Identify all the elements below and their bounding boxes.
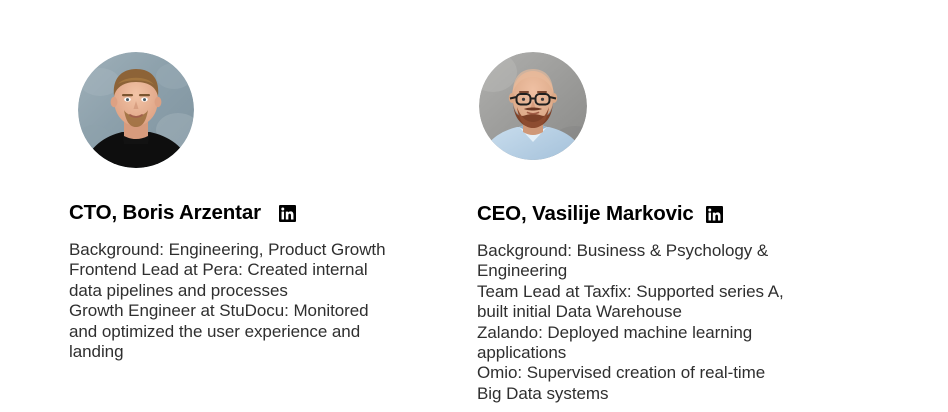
avatar-photo-boris <box>78 52 194 168</box>
team-members-grid: CTO, Boris Arzentar Background: Engineer… <box>0 0 948 412</box>
bio-line: Growth Engineer at StuDocu: Monitored an… <box>69 301 409 362</box>
member-title-row: CTO, Boris Arzentar <box>69 200 441 226</box>
avatar <box>479 52 587 160</box>
member-title-row: CEO, Vasilije Markovic <box>477 201 948 227</box>
bio-line: Omio: Supervised creation of real-time B… <box>477 363 827 404</box>
bio-line: Background: Business & Psychology & Engi… <box>477 241 827 282</box>
member-name: CTO, Boris Arzentar <box>69 200 261 226</box>
bio-line: Zalando: Deployed machine learning appli… <box>477 323 827 364</box>
bio-line: Background: Engineering, Product Growth <box>69 240 409 260</box>
linkedin-icon[interactable] <box>706 206 723 223</box>
linkedin-icon[interactable] <box>279 205 296 222</box>
avatar-photo-vasilije <box>479 52 587 160</box>
linkedin-glyph <box>706 206 723 223</box>
linkedin-glyph <box>279 205 296 222</box>
member-bio: Background: Engineering, Product Growth … <box>69 240 441 362</box>
team-member-card-cto: CTO, Boris Arzentar Background: Engineer… <box>0 0 441 412</box>
bio-line: Frontend Lead at Pera: Created internal … <box>69 260 409 301</box>
member-bio: Background: Business & Psychology & Engi… <box>477 241 948 404</box>
avatar <box>78 52 194 168</box>
team-member-card-ceo: CEO, Vasilije Markovic Background: Busin… <box>441 0 948 412</box>
bio-line: Team Lead at Taxfix: Supported series A,… <box>477 282 827 323</box>
member-name: CEO, Vasilije Markovic <box>477 201 694 227</box>
